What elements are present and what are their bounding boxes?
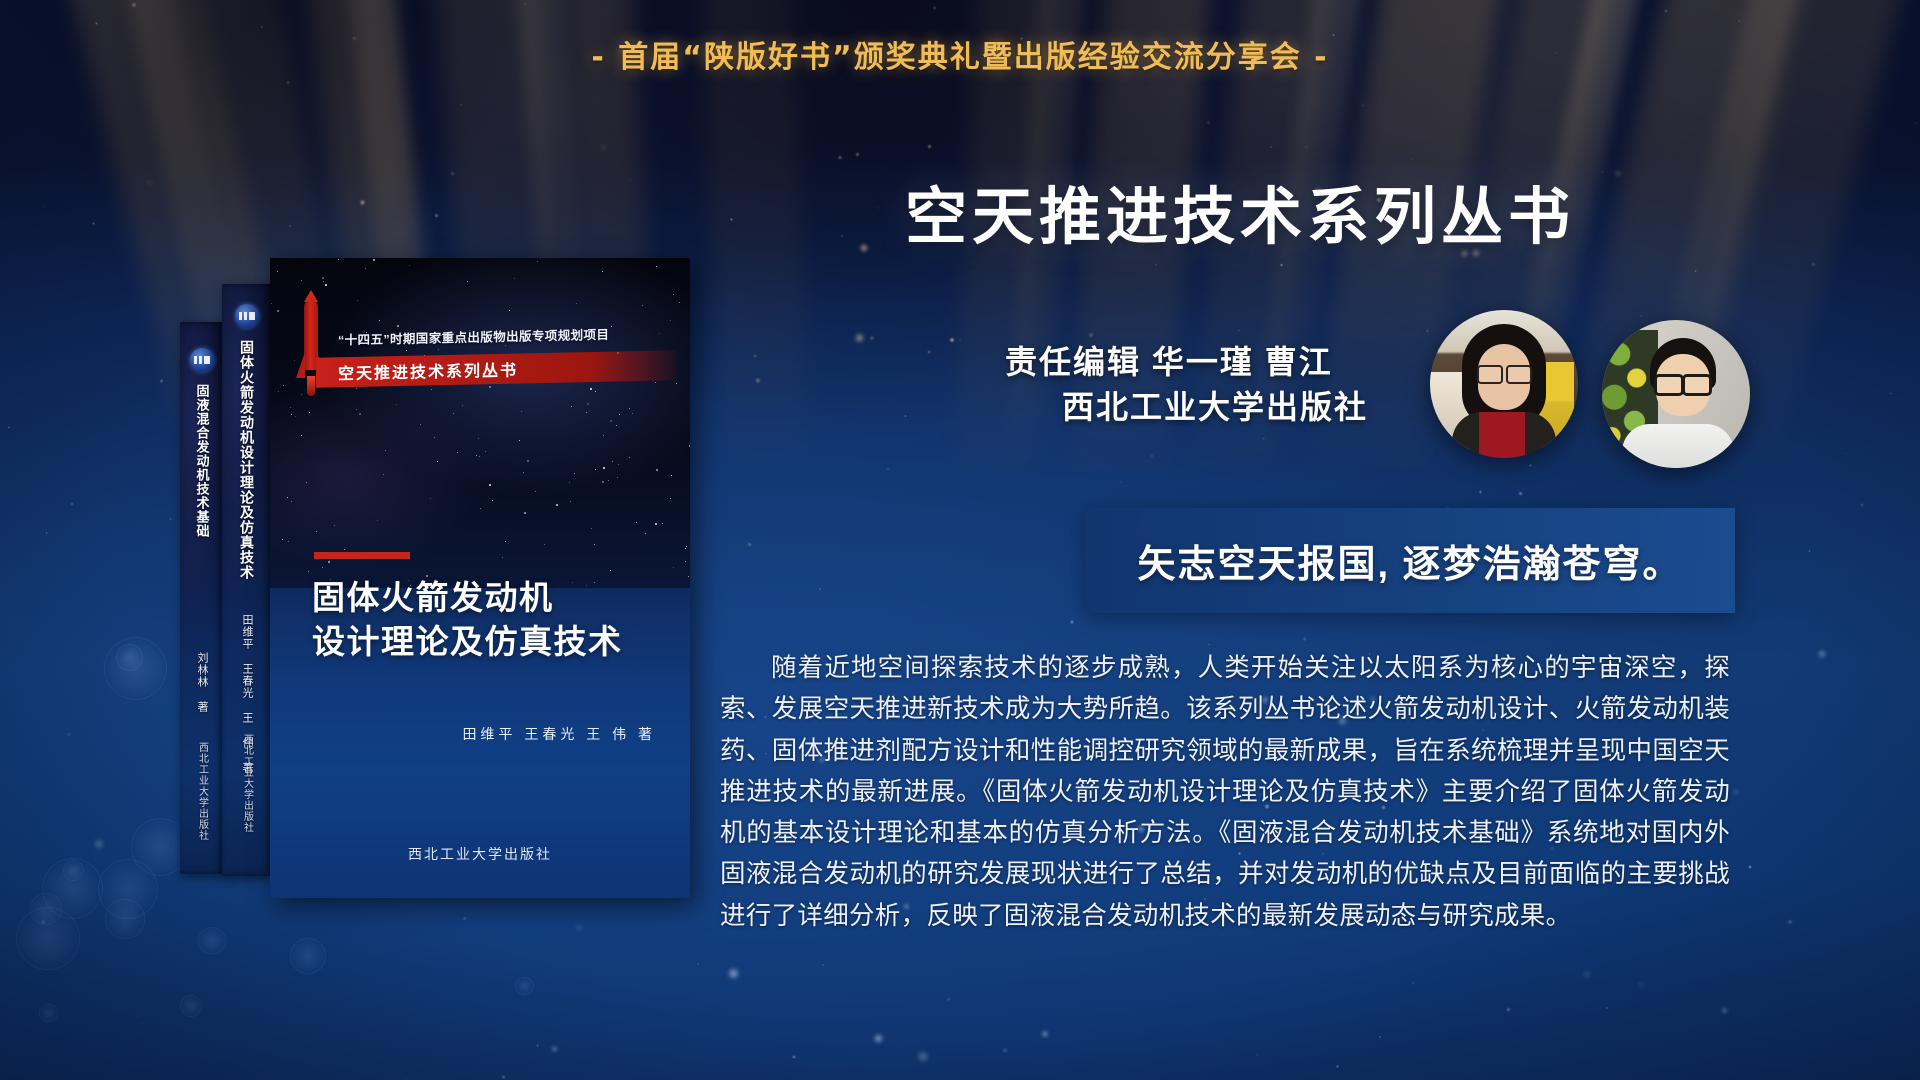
publisher-logo-icon: [235, 304, 259, 328]
cover-title-line1: 固体火箭发动机: [312, 576, 672, 620]
spine-back-publisher: 西北工业大学出版社: [195, 742, 210, 841]
poster-canvas: - 首届“陕版好书”颁奖典礼暨出版经验交流分享会 - 固液混合发动机技术基础 刘…: [0, 0, 1920, 1080]
spine-back-title: 固液混合发动机技术基础: [193, 384, 212, 538]
cover-starfield: [270, 258, 690, 588]
cover-series-banner-label: 空天推进技术系列丛书: [338, 357, 518, 385]
book-stack: 固液混合发动机技术基础 刘林林 著 西北工业大学出版社 固体火箭发动机设计理论及…: [175, 258, 715, 898]
editor-credits: 责任编辑 华一瑾 曹江 西北工业大学出版社: [1005, 340, 1425, 431]
spine-back-author: 刘林林 著: [194, 652, 210, 713]
editor-portraits: [1430, 310, 1780, 482]
description-paragraph: 随着近地空间探索技术的逐步成熟，人类开始关注以太阳系为核心的宇宙深空，探索、发展…: [720, 648, 1730, 937]
glasses-icon: [1477, 365, 1532, 380]
spine-front-publisher: 西北工业大学出版社: [240, 734, 255, 833]
cover-publisher: 西北工业大学出版社: [270, 844, 690, 864]
cover-red-rule: [314, 552, 410, 559]
cover-title: 固体火箭发动机 设计理论及仿真技术: [312, 576, 672, 663]
cover-authors: 田维平 王春光 王 伟 著: [270, 724, 656, 744]
editor-credits-line2: 西北工业大学出版社: [1005, 385, 1425, 430]
event-banner-title: - 首届“陕版好书”颁奖典礼暨出版经验交流分享会 -: [0, 32, 1920, 76]
book-spine-front: 固体火箭发动机设计理论及仿真技术 田维平 王春光 王 伟 著 西北工业大学出版社: [222, 284, 272, 876]
glasses-icon: [1654, 374, 1712, 390]
publisher-logo-icon: [190, 348, 214, 372]
avatar-editor-one: [1430, 310, 1578, 458]
slogan-banner: 矢志空天报国, 逐梦浩瀚苍穹。: [1085, 508, 1735, 613]
book-spine-back: 固液混合发动机技术基础 刘林林 著 西北工业大学出版社: [180, 322, 224, 874]
slogan-text: 矢志空天报国, 逐梦浩瀚苍穹。: [1137, 533, 1682, 588]
avatar-editor-two: [1602, 320, 1750, 468]
spine-front-title: 固体火箭发动机设计理论及仿真技术: [237, 340, 257, 580]
series-main-title: 空天推进技术系列丛书: [905, 166, 1575, 256]
cover-title-line2: 设计理论及仿真技术: [312, 620, 672, 664]
book-front-cover: “十四五”时期国家重点出版物出版专项规划项目 空天推进技术系列丛书 固体火箭发动…: [270, 258, 690, 898]
editor-credits-line1: 责任编辑 华一瑾 曹江: [1005, 340, 1425, 385]
description-block: 随着近地空间探索技术的逐步成熟，人类开始关注以太阳系为核心的宇宙深空，探索、发展…: [720, 648, 1730, 937]
